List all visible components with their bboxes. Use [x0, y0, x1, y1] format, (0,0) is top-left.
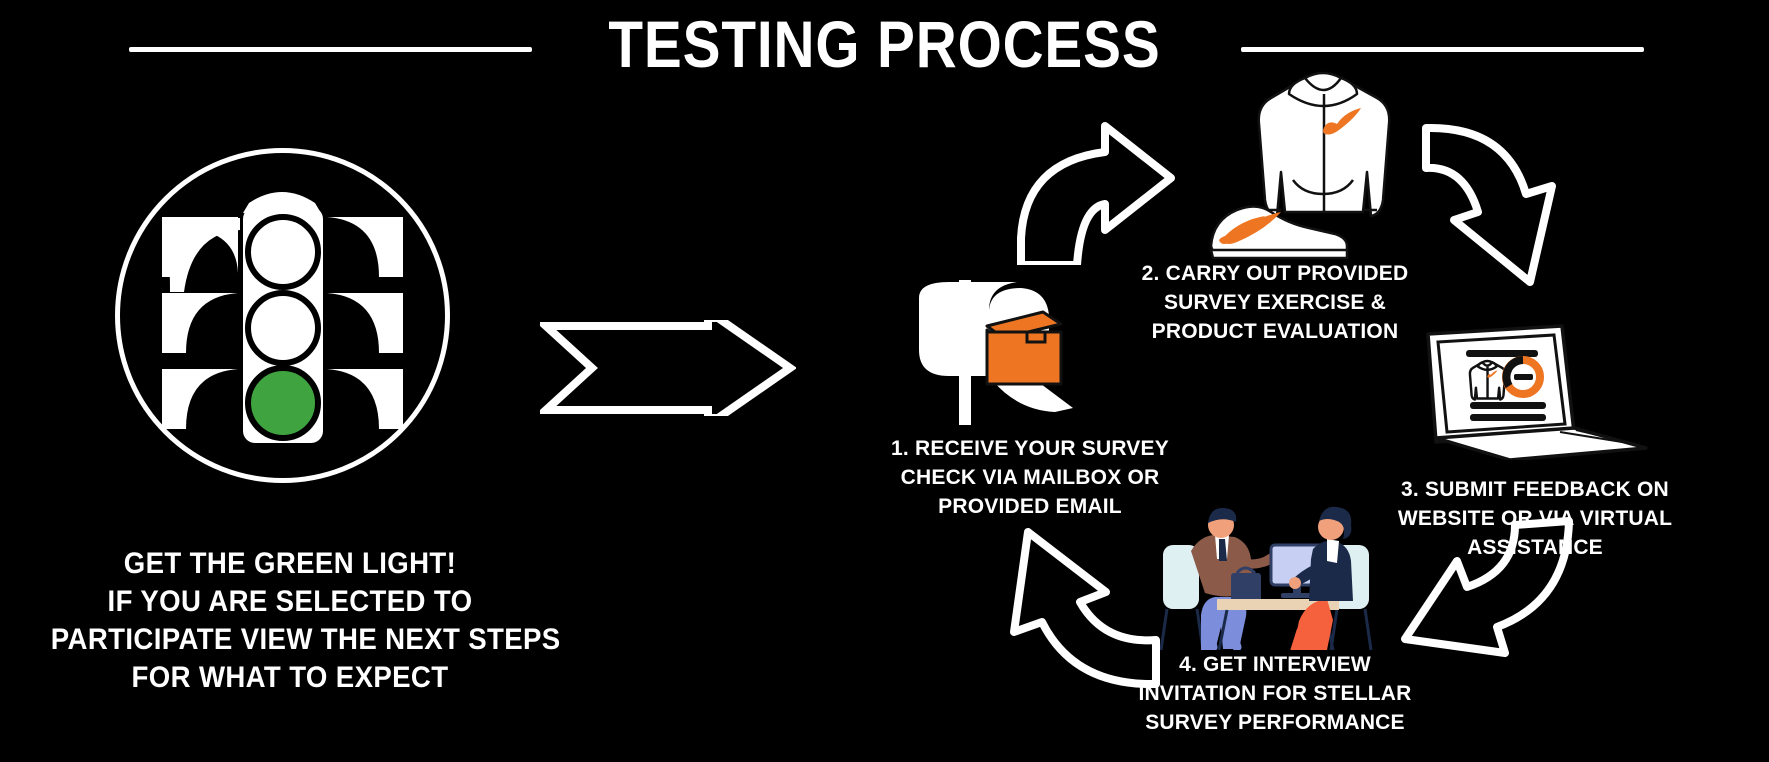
laptop-product-review-illustration: [1410, 320, 1655, 460]
nike-jacket-and-shoe-illustration: [1185, 62, 1400, 262]
poster-canvas: TESTING PROCESS: [0, 0, 1769, 762]
left-caption: GET THE GREEN LIGHT! IF YOU ARE SELECTED…: [51, 545, 529, 697]
traffic-light-icon: [110, 143, 455, 488]
interview-illustration: [1155, 503, 1377, 650]
step-1-caption: 1. RECEIVE YOUR SURVEY CHECK VIA MAILBOX…: [860, 434, 1200, 521]
left-caption-line-1: GET THE GREEN LIGHT!: [51, 545, 529, 583]
page-title: TESTING PROCESS: [124, 6, 1645, 82]
cycle-arrow-step2-to-step3-icon: [1420, 120, 1600, 290]
mailbox-with-package-illustration: [905, 280, 1095, 425]
step-2-caption: 2. CARRY OUT PROVIDED SURVEY EXERCISE & …: [1110, 259, 1440, 346]
step-2-line-3: PRODUCT EVALUATION: [1110, 317, 1440, 346]
right-arrow-icon: [540, 320, 796, 416]
step-2-line-2: SURVEY EXERCISE &: [1110, 288, 1440, 317]
cycle-arrow-step4-to-step1-icon: [970, 510, 1165, 690]
step-1-line-2: CHECK VIA MAILBOX OR: [860, 463, 1200, 492]
step-2-line-1: 2. CARRY OUT PROVIDED: [1110, 259, 1440, 288]
left-caption-line-2: IF YOU ARE SELECTED TO: [51, 583, 529, 621]
cycle-arrow-step1-to-step2-icon: [985, 120, 1185, 265]
left-caption-line-3: PARTICIPATE VIEW THE NEXT STEPS: [51, 621, 529, 659]
left-caption-line-4: FOR WHAT TO EXPECT: [51, 659, 529, 697]
step-3-line-1: 3. SUBMIT FEEDBACK ON: [1370, 475, 1700, 504]
step-1-line-1: 1. RECEIVE YOUR SURVEY: [860, 434, 1200, 463]
step-4-line-3: SURVEY PERFORMANCE: [1110, 708, 1440, 737]
